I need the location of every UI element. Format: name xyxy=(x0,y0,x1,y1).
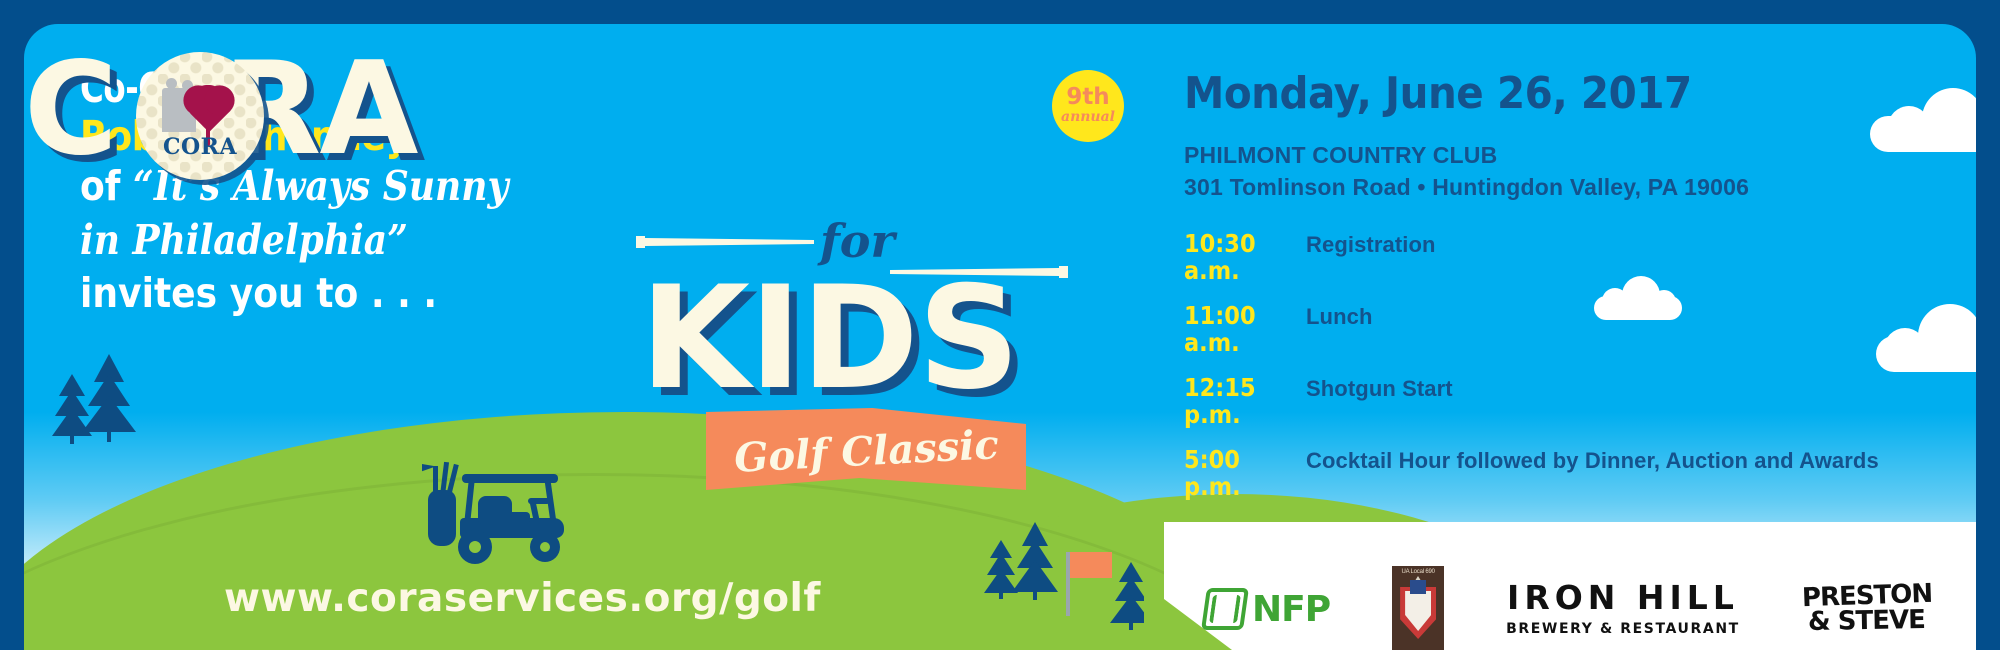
ua-local-690-logo-icon: UA Local 690 xyxy=(1392,566,1444,650)
sponsor-nfp[interactable]: NFP xyxy=(1204,588,1330,630)
nfp-label: NFP xyxy=(1252,589,1330,630)
venue-name: PHILMONT COUNTRY CLUB xyxy=(1184,140,1974,172)
sky-panel: Co-Chair Rob McElhenney of “It’s Always … xyxy=(24,24,1976,650)
steve-label: & STEVE xyxy=(1808,609,1925,634)
golf-classic-banner: Co-Chair Rob McElhenney of “It’s Always … xyxy=(0,0,2000,650)
nfp-logo-icon xyxy=(1201,588,1249,630)
pine-tree-mid-large xyxy=(1012,522,1058,600)
sponsor-preston-and-steve[interactable]: PRESTON & STEVE xyxy=(1802,585,1932,634)
schedule-time: 12:15 p.m. xyxy=(1184,374,1294,429)
cora-letter-c: C xyxy=(24,35,116,184)
schedule-time: 11:00 a.m. xyxy=(1184,302,1294,357)
event-date: Monday, June 26, 2017 xyxy=(1184,70,1911,118)
cora-family-head-3 xyxy=(166,104,174,112)
event-venue: PHILMONT COUNTRY CLUB 301 Tomlinson Road… xyxy=(1184,140,1974,203)
event-schedule: 10:30 a.m. Registration 11:00 a.m. Lunch… xyxy=(1184,230,1974,501)
sponsor-ua-local-690[interactable]: UA Local 690 xyxy=(1392,566,1444,650)
invites-you-line: invites you to . . . xyxy=(80,267,538,320)
preston-and-steve-logo-icon: PRESTON & STEVE xyxy=(1802,585,1932,634)
schedule-desc: Cocktail Hour followed by Dinner, Auctio… xyxy=(1306,449,1879,473)
ua-emblem-icon xyxy=(1410,580,1426,594)
golf-cart-illustration xyxy=(424,456,584,566)
sponsor-logos: NFP UA Local 690 IRON HILL BREWERY & RES… xyxy=(1204,560,1976,650)
schedule-row: 5:00 p.m. Cocktail Hour followed by Dinn… xyxy=(1184,446,1974,501)
ninth-annual-badge: 9th annual xyxy=(1052,70,1124,142)
shield-icon xyxy=(1400,587,1436,639)
golf-tee-left-icon xyxy=(636,236,814,248)
iron-hill-logo-icon: IRON HILL BREWERY & RESTAURANT xyxy=(1506,581,1740,637)
golf-classic-label: Golf Classic xyxy=(733,421,1000,482)
pine-tree-left-large xyxy=(82,354,136,444)
schedule-desc: Shotgun Start xyxy=(1306,377,1453,401)
cora-family-head-1 xyxy=(166,78,177,89)
badge-annual-label: annual xyxy=(1061,109,1115,126)
show-title-part-2: in Philadelphia” xyxy=(80,214,538,267)
schedule-row: 11:00 a.m. Lunch xyxy=(1184,302,1974,357)
golf-classic-ribbon: Golf Classic xyxy=(706,408,1026,490)
event-details: Monday, June 26, 2017 PHILMONT COUNTRY C… xyxy=(1184,70,1974,518)
iron-hill-sublabel: BREWERY & RESTAURANT xyxy=(1506,621,1740,637)
website-url[interactable]: www.coraservices.org/golf xyxy=(224,576,821,621)
schedule-row: 12:15 p.m. Shotgun Start xyxy=(1184,374,1974,429)
cora-ball-wordmark: CORA xyxy=(136,134,264,160)
iron-hill-label: IRON HILL xyxy=(1507,581,1739,614)
badge-ordinal: 9th xyxy=(1066,86,1109,109)
schedule-time: 5:00 p.m. xyxy=(1184,446,1294,501)
sponsor-iron-hill[interactable]: IRON HILL BREWERY & RESTAURANT xyxy=(1506,581,1740,637)
golf-flag-cloth xyxy=(1070,552,1112,578)
hill-base xyxy=(24,624,1244,650)
schedule-row: 10:30 a.m. Registration xyxy=(1184,230,1974,285)
schedule-desc: Lunch xyxy=(1306,305,1373,329)
schedule-time: 10:30 a.m. xyxy=(1184,230,1294,285)
kids-wordmark: KIDS xyxy=(640,268,1070,408)
schedule-desc: Registration xyxy=(1306,233,1436,257)
ua-local-690-label: UA Local 690 xyxy=(1401,569,1434,575)
venue-address: 301 Tomlinson Road • Huntingdon Valley, … xyxy=(1184,172,1974,204)
cora-golf-ball-logo: CORA xyxy=(136,52,264,180)
